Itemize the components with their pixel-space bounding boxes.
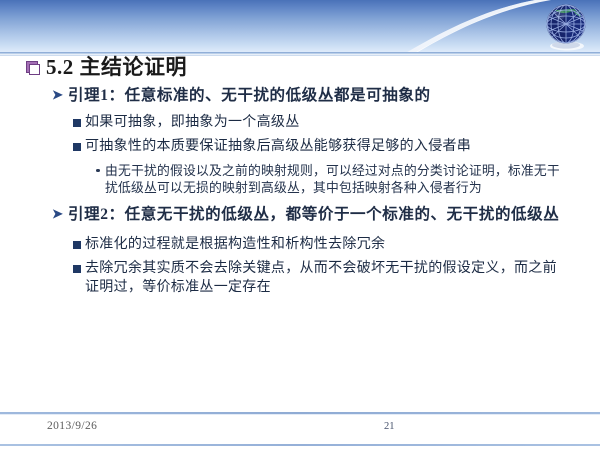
lemma-2-point-1-text: 标准化的过程就是根据构造性和析构性去除冗余 (85, 237, 385, 252)
page-number: 21 (384, 421, 395, 432)
footer-date: 2013/9/26 (47, 420, 97, 432)
page-title: 5.2 主结论证明 (46, 57, 187, 78)
lemma-1-point-2-text: 可抽象性的本质要保证抽象后高级丛能够获得足够的入侵者串 (85, 139, 471, 154)
lemma-1-point-2: 可抽象性的本质要保证抽象后高级丛能够获得足够的入侵者串 (0, 138, 600, 156)
square-bullet-icon (73, 119, 81, 127)
arrow-bullet-icon: ➤ (52, 88, 64, 102)
slide-header-banner (0, 0, 600, 52)
lemma-2-heading: ➤ 引理2：任意无干扰的低级丛，都等价于一个标准的、无干扰的低级丛 (0, 205, 600, 226)
lemma-1-point-1-text: 如果可抽象，即抽象为一个高级丛 (85, 115, 300, 130)
purple-square-icon (26, 61, 39, 74)
lemma-1-text: 引理1：任意标准的、无干扰的低级丛都是可抽象的 (68, 87, 431, 104)
square-bullet-icon (73, 265, 81, 273)
lemma-1-heading: ➤ 引理1：任意标准的、无干扰的低级丛都是可抽象的 (0, 86, 600, 107)
square-bullet-icon (73, 143, 81, 151)
lemma-1-point-2-detail-text: 由无干扰的假设以及之前的映射规则，可以经过对点的分类讨论证明，标准无干扰低级丛可… (105, 164, 560, 195)
slide: 5.2 主结论证明 ➤ 引理1：任意标准的、无干扰的低级丛都是可抽象的 如果可抽… (0, 0, 600, 450)
page-title-row: 5.2 主结论证明 (26, 57, 187, 78)
lemma-2-text: 引理2：任意无干扰的低级丛，都等价于一个标准的、无干扰的低级丛 (68, 206, 559, 223)
dot-bullet-icon (96, 169, 100, 173)
globe-network-logo-icon (540, 2, 592, 52)
lemma-2-point-2-text: 去除冗余其实质不会去除关键点，从而不会破坏无干扰的假设定义，而之前证明过，等价标… (85, 261, 557, 294)
square-bullet-icon (73, 241, 81, 249)
arrow-bullet-icon: ➤ (52, 207, 64, 221)
lemma-1-point-1: 如果可抽象，即抽象为一个高级丛 (0, 114, 600, 132)
slide-bottom-border (0, 444, 600, 446)
lemma-1-point-2-detail: 由无干扰的假设以及之前的映射规则，可以经过对点的分类讨论证明，标准无干扰低级丛可… (0, 163, 600, 198)
lemma-2-point-2: 去除冗余其实质不会去除关键点，从而不会破坏无干扰的假设定义，而之前证明过，等价标… (0, 260, 600, 297)
slide-content: ➤ 引理1：任意标准的、无干扰的低级丛都是可抽象的 如果可抽象，即抽象为一个高级… (0, 86, 600, 298)
lemma-2-point-1: 标准化的过程就是根据构造性和析构性去除冗余 (0, 236, 600, 254)
footer-divider-highlight (0, 414, 600, 415)
